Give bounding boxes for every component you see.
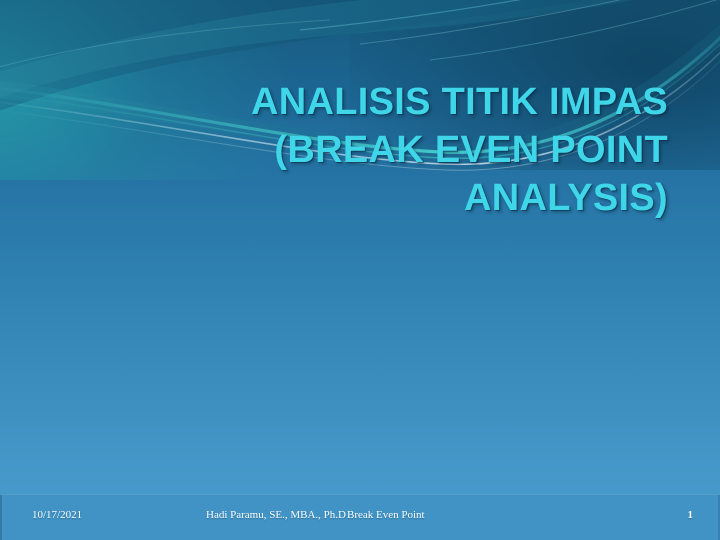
title-line-2: (BREAK EVEN POINT	[60, 126, 668, 174]
title-line-1: ANALISIS TITIK IMPAS	[60, 78, 668, 126]
footer-topic: Break Even Point	[347, 509, 425, 521]
footer-date: 10/17/2021	[32, 509, 82, 521]
footer-page-number: 1	[688, 509, 694, 521]
footer-author: Hadi Paramu, SE., MBA., Ph.D	[206, 509, 346, 521]
presentation-slide: ANALISIS TITIK IMPAS (BREAK EVEN POINT A…	[0, 0, 720, 540]
title-line-3: ANALYSIS)	[60, 174, 668, 222]
slide-footer: 10/17/2021 Hadi Paramu, SE., MBA., Ph.D …	[0, 494, 720, 540]
slide-title: ANALISIS TITIK IMPAS (BREAK EVEN POINT A…	[60, 78, 668, 222]
footer-left-edge	[0, 495, 2, 540]
